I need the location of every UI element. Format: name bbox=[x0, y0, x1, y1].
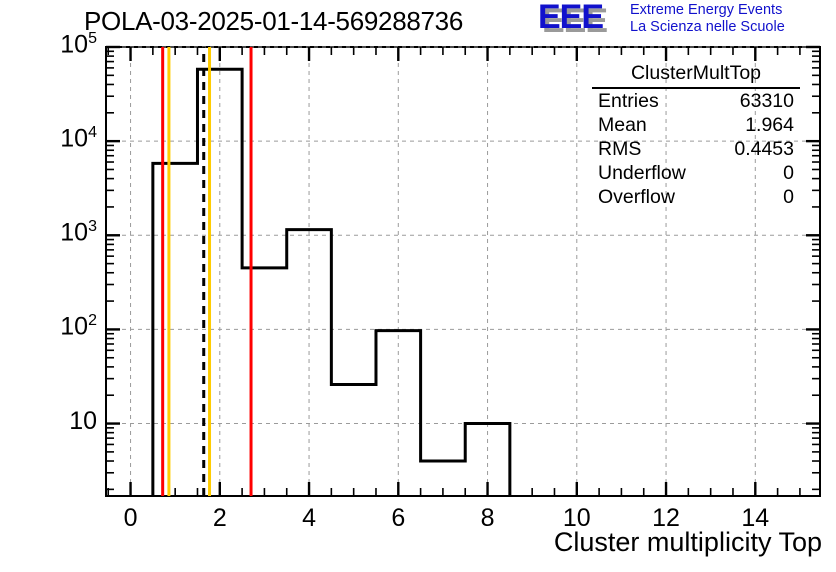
x-axis-label: 8 bbox=[448, 504, 528, 533]
stats-row: Overflow0 bbox=[598, 186, 794, 208]
stats-row-label: Overflow bbox=[598, 186, 675, 208]
stats-row-value: 63310 bbox=[740, 90, 794, 112]
stats-row-value: 0 bbox=[783, 186, 794, 208]
x-axis-label: 6 bbox=[358, 504, 438, 533]
stats-row: Mean1.964 bbox=[598, 114, 794, 136]
stats-row: Entries63310 bbox=[598, 90, 794, 112]
root-canvas: POLA-03-2025-01-14-569288736 EEE EEE Ext… bbox=[0, 0, 836, 572]
histogram-outline bbox=[153, 69, 510, 496]
y-axis-label: 103 bbox=[60, 218, 97, 247]
x-axis-label: 0 bbox=[91, 504, 171, 533]
stats-row-label: RMS bbox=[598, 138, 641, 160]
stats-row: Underflow0 bbox=[598, 162, 794, 184]
stats-row-value: 0.4453 bbox=[734, 138, 794, 160]
y-axis-label: 102 bbox=[60, 312, 97, 341]
stats-box: ClusterMultTop Entries63310Mean1.964RMS0… bbox=[592, 62, 800, 202]
stats-row-value: 1.964 bbox=[745, 114, 794, 136]
stats-row-label: Underflow bbox=[598, 162, 686, 184]
y-axis-label: 10 bbox=[69, 407, 97, 436]
stats-row-label: Entries bbox=[598, 90, 659, 112]
x-axis-label: 2 bbox=[180, 504, 260, 533]
y-axis-label: 105 bbox=[60, 30, 97, 59]
x-axis-label: 4 bbox=[269, 504, 349, 533]
x-axis-title: Cluster multiplicity Top bbox=[554, 527, 822, 558]
y-axis-label: 104 bbox=[60, 124, 97, 153]
stats-row-label: Mean bbox=[598, 114, 647, 136]
stats-row: RMS0.4453 bbox=[598, 138, 794, 160]
stats-title: ClusterMultTop bbox=[592, 62, 800, 89]
stats-row-value: 0 bbox=[783, 162, 794, 184]
